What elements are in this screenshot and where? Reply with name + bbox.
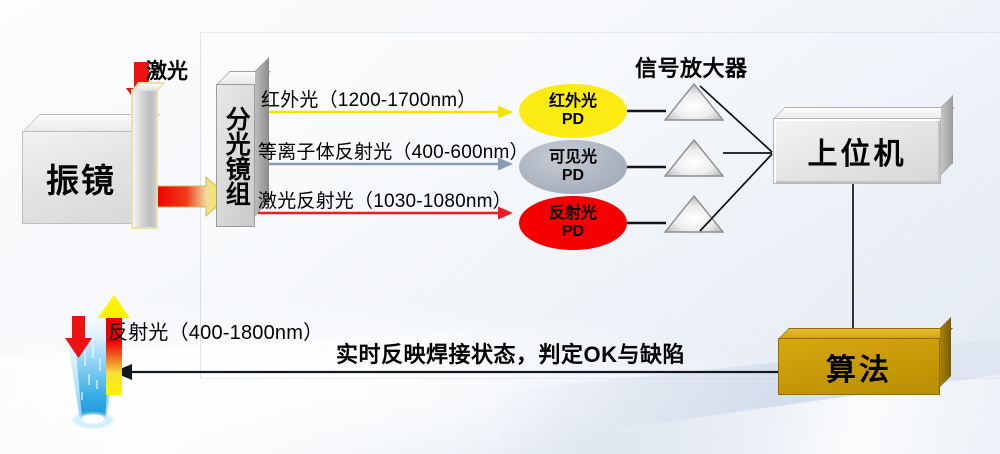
host-computer-box[interactable]: 上位机: [773, 118, 941, 184]
reflected-light-label: 反射光（400-1800nm）: [108, 316, 323, 345]
laser-label: 激光: [146, 55, 188, 85]
beam-splitter-box[interactable]: 分光镜组: [216, 84, 255, 227]
splitter-label: 分光镜组: [216, 84, 255, 227]
beam-label-infrared: 红外光（1200-1700nm）: [261, 85, 476, 112]
host-to-algorithm-arrow: [846, 184, 860, 340]
feedback-label: 实时反映焊接状态，判定OK与缺陷: [336, 337, 685, 369]
visible-pd-node[interactable]: 可见光 PD: [519, 140, 627, 194]
diagram-canvas: 振镜 分光镜组 上位机 算法 红外光 PD 可见光 PD 反射光 PD 激光 信…: [0, 0, 1000, 454]
algorithm-box-side: [940, 317, 951, 387]
galvo-label: 振镜: [22, 131, 140, 224]
reflection-pd-line2: PD: [562, 223, 584, 241]
host-label: 上位机: [773, 118, 941, 184]
beam-label-plasma: 等离子体反射光（400-600nm）: [258, 137, 529, 164]
visible-pd-line2: PD: [562, 167, 584, 185]
infrared-pd-line1: 红外光: [549, 93, 597, 111]
beam-label-laser-reflection: 激光反射光（1030-1080nm）: [258, 186, 512, 213]
infrared-pd-line2: PD: [562, 111, 584, 129]
algorithm-label: 算法: [778, 338, 940, 395]
reflection-pd-line1: 反射光: [549, 205, 597, 223]
reflection-pd-node[interactable]: 反射光 PD: [519, 196, 627, 250]
amplifier-label: 信号放大器: [635, 51, 748, 83]
amplifier-triangle-1: [665, 84, 723, 120]
mirror-column: [131, 89, 158, 229]
visible-pd-line1: 可见光: [549, 149, 597, 167]
galvo-scanner-box[interactable]: 振镜: [22, 131, 140, 224]
amplifier-triangle-3: [665, 196, 723, 232]
amplifier-triangle-2: [665, 140, 723, 176]
host-box-side: [941, 95, 953, 175]
algorithm-box[interactable]: 算法: [778, 338, 940, 395]
infrared-pd-node[interactable]: 红外光 PD: [519, 84, 627, 138]
